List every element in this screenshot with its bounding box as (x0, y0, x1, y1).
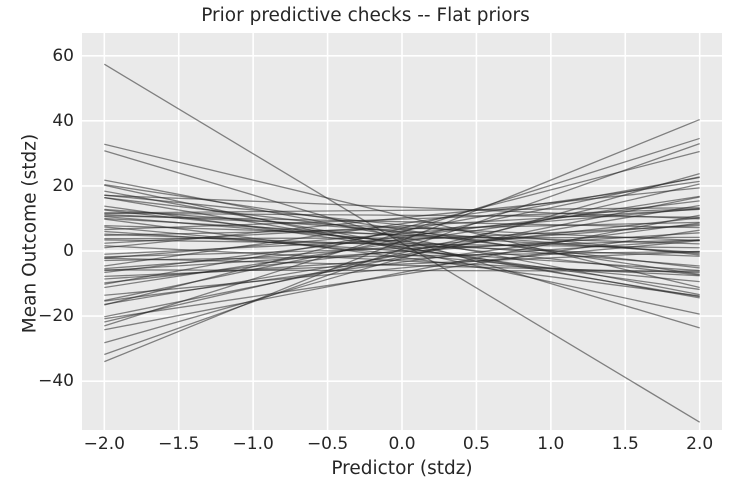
y-tick-label: 0 (63, 241, 74, 261)
chart-title: Prior predictive checks -- Flat priors (0, 5, 731, 26)
y-tick-label: 20 (52, 176, 74, 196)
x-axis-tick-labels: −2.0−1.5−1.0−0.50.00.51.01.52.0 (82, 430, 722, 460)
y-tick-label: −20 (38, 306, 74, 326)
x-tick-label: 1.5 (612, 434, 639, 454)
y-tick-label: −40 (38, 371, 74, 391)
x-tick-label: −2.0 (84, 434, 125, 454)
x-tick-label: 2.0 (686, 434, 713, 454)
x-tick-label: 0.5 (463, 434, 490, 454)
plot-area (82, 33, 722, 430)
y-axis-tick-labels: −40−200204060 (0, 33, 82, 430)
x-tick-label: 0.0 (388, 434, 415, 454)
prior-predictive-lines (82, 33, 722, 430)
x-tick-label: −1.0 (233, 434, 274, 454)
x-axis-label: Predictor (stdz) (82, 458, 722, 479)
x-tick-label: 1.0 (537, 434, 564, 454)
x-tick-label: −0.5 (307, 434, 348, 454)
x-tick-label: −1.5 (158, 434, 199, 454)
y-tick-label: 60 (52, 46, 74, 66)
chart-figure: Prior predictive checks -- Flat priors M… (0, 0, 731, 491)
y-tick-label: 40 (52, 111, 74, 131)
